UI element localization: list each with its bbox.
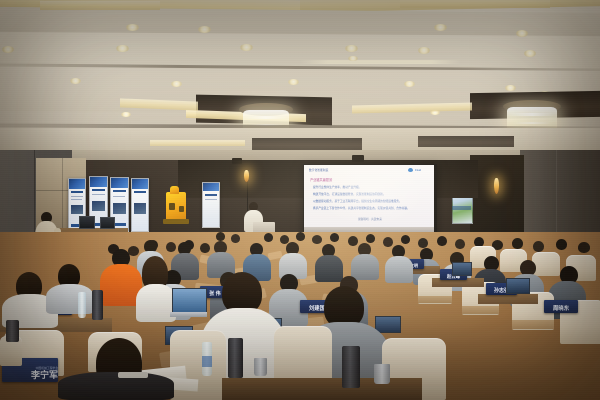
chair-sash [462,306,499,314]
conference-hall-photo: 数字化智能制造 Fluid 产业链共赢愿景 提升行业整体生产效率，推动产业升级。… [0,0,600,400]
attendee-body [315,255,343,282]
recessed-downlight [240,44,253,51]
banner-header [90,177,107,187]
recessed-downlight [418,47,430,54]
nameplate-name: 张 伟 [209,292,220,297]
banner-heading-bar [134,191,146,193]
nameplate-name: 刘建国 [309,307,325,312]
attendee-body [46,284,94,314]
water-bottle[interactable] [78,292,86,318]
collar [118,372,148,378]
banner-body-text [92,194,105,195]
cove-light-strip [400,0,550,8]
banner-body-text [113,196,125,197]
recessed-downlight [121,112,131,117]
ceiling-recess-far [252,138,362,150]
paper-cup[interactable] [254,358,267,376]
recessed-downlight [126,24,139,31]
chair-sash [418,296,452,303]
recessed-downlight [505,85,516,91]
banner-heading-bar [205,194,217,196]
banner-body-text [71,196,83,197]
nameplate-right-row5: 周晓东 [544,300,578,313]
wall-poster-band [452,206,471,210]
cove-light-strip [150,140,245,146]
recessed-downlight [70,78,81,84]
banner-header [203,183,219,191]
banner-header [69,179,85,189]
projector-hotspot [318,165,428,227]
recessed-downlight [171,81,182,87]
vacuum-flask[interactable] [342,346,360,388]
chandelier-glint [245,116,287,119]
recessed-downlight [116,45,129,52]
laptop-keyboard[interactable] [170,312,207,317]
stage-accent-light [244,170,249,182]
recessed-downlight [434,24,447,31]
paper-cup[interactable] [374,364,390,384]
recessed-downlight [345,45,358,52]
vacuum-flask[interactable] [6,320,19,342]
ceiling-speaker [352,155,364,162]
banner-image [134,203,146,214]
chandelier-glint [509,113,555,116]
banner-header [132,179,148,189]
laptop-screen[interactable] [506,278,530,294]
chandelier-glint [513,122,551,124]
chair-sash [512,320,554,329]
recessed-downlight [516,30,528,37]
vacuum-flask[interactable] [228,338,243,378]
banner-header [111,178,128,188]
nameplate-name: 周晓东 [553,307,569,312]
cove-light-strip [40,1,160,10]
laptop-screen[interactable] [452,262,472,276]
ceiling-recess-far [418,136,514,147]
recessed-downlight [198,26,211,33]
attendee-body [351,254,379,280]
banner-heading-bar [92,189,105,191]
ceiling-light-slot [300,60,460,64]
recessed-downlight [524,50,536,57]
recessed-downlight [288,79,299,85]
ceiling [0,0,600,175]
machine-model-detail [169,203,175,210]
banner-body-text [205,199,217,200]
banner-image [92,201,105,211]
banner-heading-bar [71,191,83,193]
machine-model-detail [179,206,184,212]
recessed-downlight [404,81,415,87]
projection-screen[interactable]: 数字化智能制造 Fluid 产业链共赢愿景 提升行业整体生产效率，推动产业升级。… [304,165,434,227]
ceiling-speaker [232,158,242,164]
attendee-table [478,294,538,304]
nameplate-name: 李宁军 [31,371,58,380]
banner-heading-bar [113,190,126,192]
recessed-downlight [348,56,358,61]
wall-sconce [494,178,499,194]
attendee-table [222,378,422,400]
water-bottle-label [202,356,212,367]
laptop-screen[interactable] [375,316,401,333]
attendee-body [385,256,413,283]
machine-model-top [170,186,179,194]
banner-body-text [71,199,82,200]
attendee-body [58,372,174,400]
vacuum-flask[interactable] [92,290,103,320]
banner-image [71,205,83,214]
recessed-downlight [2,46,14,53]
banner-image [113,203,126,214]
laptop-screen[interactable] [172,288,207,314]
microphone-stand [247,177,248,211]
